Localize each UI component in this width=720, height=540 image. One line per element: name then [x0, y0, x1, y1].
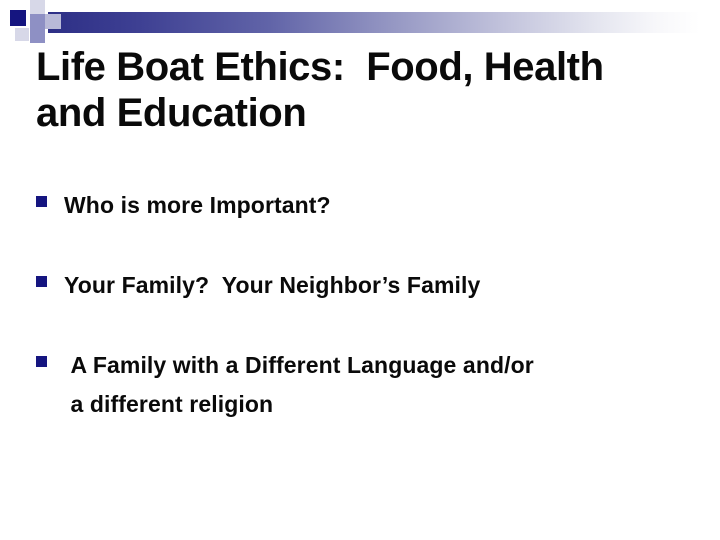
square-bullet-icon — [36, 276, 47, 287]
decor-square-pale-top — [30, 0, 45, 14]
decor-square-mid-center — [30, 14, 45, 29]
slide-canvas: Life Boat Ethics: Food, Health and Educa… — [0, 0, 720, 540]
bullet-text: Your Family? Your Neighbor’s Family — [64, 266, 686, 305]
header-gradient-bar — [48, 12, 700, 33]
bullet-list: Who is more Important? Your Family? Your… — [36, 186, 686, 424]
slide-title: Life Boat Ethics: Food, Health and Educa… — [36, 44, 666, 136]
decor-square-mid-bottom — [30, 29, 45, 43]
square-bullet-icon — [36, 196, 47, 207]
bullet-text: Who is more Important? — [64, 186, 686, 225]
decor-square-dark — [10, 10, 26, 26]
decor-square-light-right — [45, 14, 61, 29]
square-bullet-icon — [36, 356, 47, 367]
decor-square-pale-left — [15, 28, 29, 41]
list-item: Who is more Important? — [36, 186, 686, 225]
list-item: Your Family? Your Neighbor’s Family — [36, 266, 686, 305]
list-item: A Family with a Different Language and/o… — [36, 346, 686, 424]
bullet-text: A Family with a Different Language and/o… — [64, 346, 686, 424]
